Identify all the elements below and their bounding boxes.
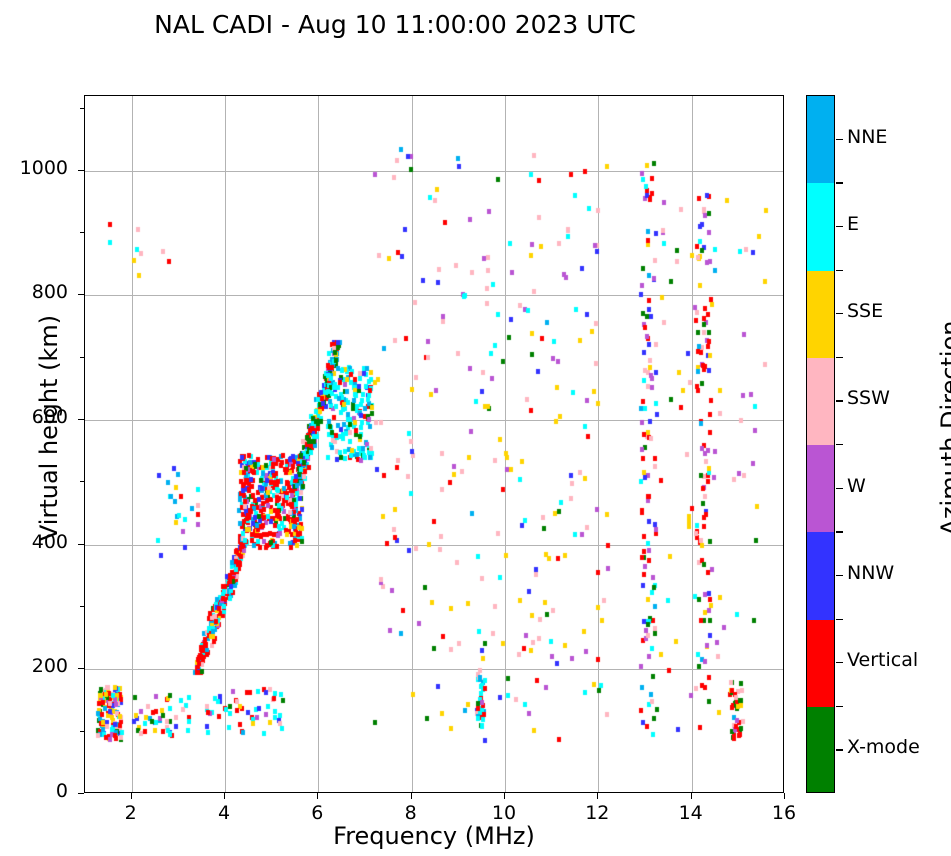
colorbar-label-sse: SSE bbox=[847, 300, 883, 322]
colorbar-boundary-tick bbox=[836, 270, 843, 271]
x-tick-label: 2 bbox=[101, 802, 161, 824]
x-tick-label: 16 bbox=[754, 802, 814, 824]
y-axis-label: Virtual height (km) bbox=[35, 278, 63, 578]
x-tick bbox=[224, 793, 225, 799]
colorbar-tick bbox=[836, 313, 843, 314]
x-tick-label: 10 bbox=[474, 802, 534, 824]
colorbar-tick bbox=[836, 226, 843, 227]
x-tick bbox=[504, 793, 505, 799]
colorbar-band-e[interactable] bbox=[807, 183, 834, 270]
y-minor-tick bbox=[80, 108, 84, 109]
page-title: NAL CADI - Aug 10 11:00:00 2023 UTC bbox=[0, 10, 790, 39]
y-minor-tick bbox=[80, 232, 84, 233]
y-tick bbox=[78, 544, 84, 545]
colorbar-boundary-tick bbox=[836, 531, 843, 532]
y-tick-label: 1000 bbox=[8, 157, 68, 179]
colorbar-band-w[interactable] bbox=[807, 445, 834, 532]
colorbar-tick bbox=[836, 400, 843, 401]
colorbar-label-w: W bbox=[847, 475, 866, 497]
colorbar-band-sse[interactable] bbox=[807, 271, 834, 358]
x-tick bbox=[597, 793, 598, 799]
colorbar-band-nnw[interactable] bbox=[807, 532, 834, 619]
colorbar-label-ssw: SSW bbox=[847, 387, 890, 409]
x-tick bbox=[411, 793, 412, 799]
scatter-data-layer bbox=[85, 96, 783, 792]
x-tick bbox=[691, 793, 692, 799]
x-tick-label: 12 bbox=[567, 802, 627, 824]
colorbar-label-nne: NNE bbox=[847, 126, 887, 148]
colorbar-boundary-tick bbox=[836, 444, 843, 445]
colorbar-label: Azimuth Direction bbox=[936, 268, 951, 588]
x-tick-label: 6 bbox=[287, 802, 347, 824]
colorbar-tick bbox=[836, 662, 843, 663]
x-tick bbox=[317, 793, 318, 799]
colorbar-boundary-tick bbox=[836, 619, 843, 620]
x-tick-label: 8 bbox=[381, 802, 441, 824]
y-minor-tick bbox=[80, 606, 84, 607]
colorbar-boundary-tick bbox=[836, 182, 843, 183]
colorbar-boundary-tick bbox=[836, 706, 843, 707]
colorbar[interactable] bbox=[806, 95, 835, 793]
y-tick bbox=[78, 419, 84, 420]
x-tick bbox=[131, 793, 132, 799]
colorbar-label-e: E bbox=[847, 213, 859, 235]
x-tick-label: 4 bbox=[194, 802, 254, 824]
colorbar-label-x-mode: X-mode bbox=[847, 736, 920, 758]
y-minor-tick bbox=[80, 357, 84, 358]
colorbar-label-nnw: NNW bbox=[847, 562, 894, 584]
colorbar-boundary-tick bbox=[836, 357, 843, 358]
y-tick bbox=[78, 294, 84, 295]
x-tick bbox=[784, 793, 785, 799]
y-minor-tick bbox=[80, 731, 84, 732]
y-tick bbox=[78, 668, 84, 669]
colorbar-band-vertical[interactable] bbox=[807, 620, 834, 707]
colorbar-band-x-mode[interactable] bbox=[807, 707, 834, 793]
x-tick-label: 14 bbox=[661, 802, 721, 824]
colorbar-band-ssw[interactable] bbox=[807, 358, 834, 445]
y-tick bbox=[78, 793, 84, 794]
ionogram-figure: NAL CADI - Aug 10 11:00:00 2023 UTC 2468… bbox=[0, 0, 951, 856]
y-tick bbox=[78, 170, 84, 171]
y-tick-label: 200 bbox=[8, 655, 68, 677]
colorbar-label-vertical: Vertical bbox=[847, 649, 918, 671]
y-tick-label: 0 bbox=[8, 780, 68, 802]
colorbar-tick bbox=[836, 575, 843, 576]
colorbar-tick bbox=[836, 749, 843, 750]
scatter-canvas bbox=[85, 96, 784, 793]
colorbar-tick bbox=[836, 488, 843, 489]
x-axis-label: Frequency (MHz) bbox=[84, 822, 784, 850]
plot-area[interactable] bbox=[84, 95, 784, 793]
colorbar-band-nne[interactable] bbox=[807, 96, 834, 183]
colorbar-tick bbox=[836, 139, 843, 140]
y-minor-tick bbox=[80, 481, 84, 482]
